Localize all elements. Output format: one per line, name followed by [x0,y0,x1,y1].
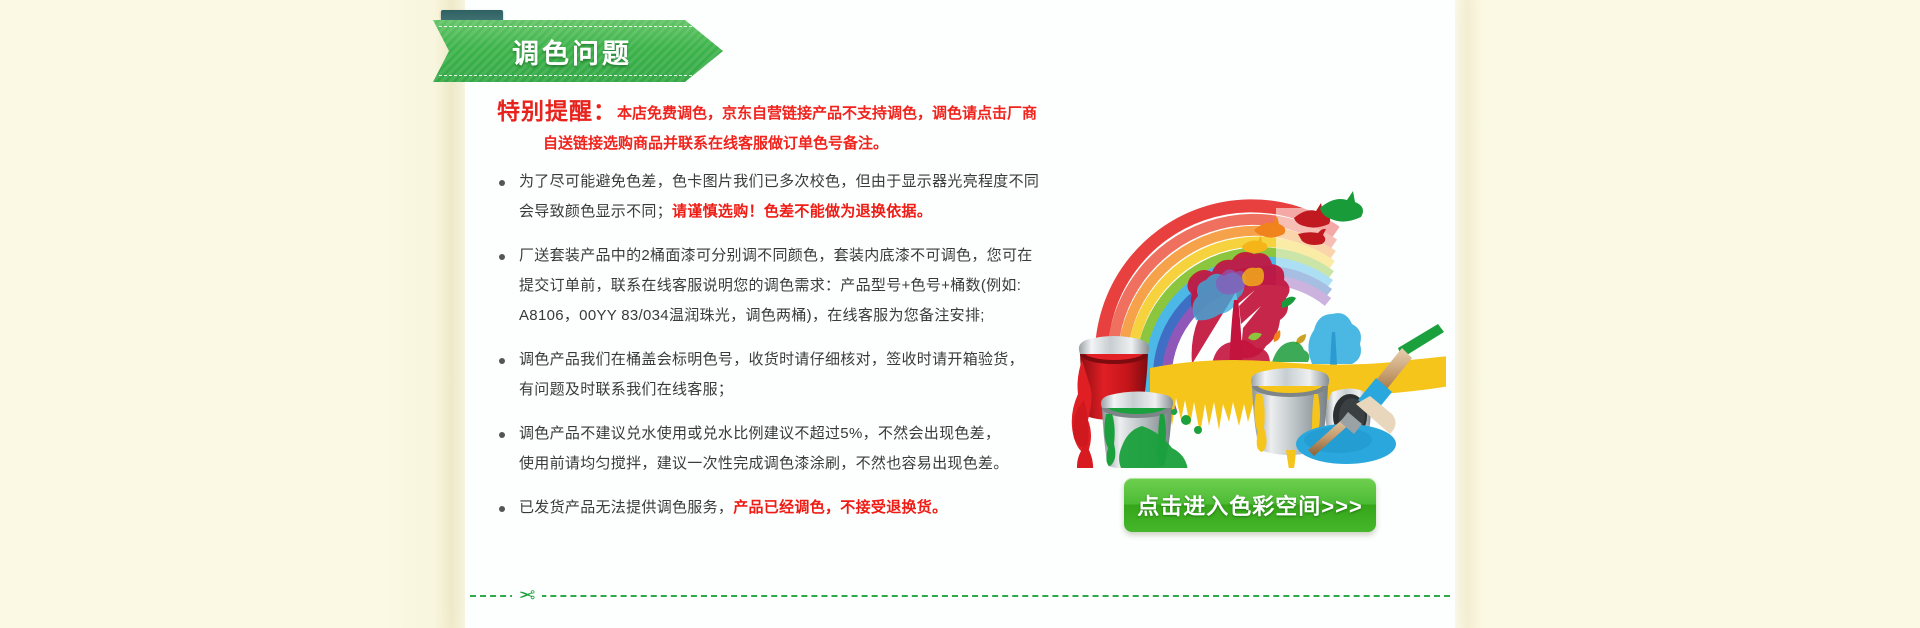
special-notice-line2: 自送链接选购商品并联系在线客服做订单色号备注。 [497,129,1057,159]
scissors-icon: ✂ [512,583,542,609]
content-sheet: 调色问题 特别提醒：本店免费调色，京东自营链接产品不支持调色，调色请点击厂商 自… [465,0,1455,628]
special-notice: 特别提醒：本店免费调色，京东自营链接产品不支持调色，调色请点击厂商 自送链接选购… [497,96,1057,159]
notice-content: 特别提醒：本店免费调色，京东自营链接产品不支持调色，调色请点击厂商 自送链接选购… [497,96,1057,537]
notice-list: 为了尽可能避免色差，色卡图片我们已多次校色，但由于显示器光亮程度不同 会导致颜色… [497,167,1057,523]
special-notice-line1: 本店免费调色，京东自营链接产品不支持调色，调色请点击厂商 [617,105,1037,122]
list-item: 调色产品不建议兑水使用或兑水比例建议不超过5%，不然会出现色差， 使用前请均匀搅… [497,419,1057,479]
list-item-line2: 会导致颜色显示不同； [519,203,672,220]
list-item-line1: 厂送套装产品中的2桶面漆可分别调不同颜色，套装内底漆不可调色，您可在 [519,247,1033,264]
list-item: 为了尽可能避免色差，色卡图片我们已多次校色，但由于显示器光亮程度不同 会导致颜色… [497,167,1057,227]
list-item-line1: 调色产品我们在桶盖会标明色号，收货时请仔细核对，签收时请开箱验货， [519,351,1024,368]
list-item: 已发货产品无法提供调色服务，产品已经调色，不接受退换货。 [497,493,1057,523]
list-item-line1: 已发货产品无法提供调色服务， [519,499,733,516]
page-title: 调色问题 [433,20,685,82]
list-item-line2: 有问题及时联系我们在线客服； [519,381,733,398]
list-item-line1-highlight: 产品已经调色，不接受退换货。 [733,499,947,516]
list-item-line2-highlight: 请谨慎选购！色差不能做为退换依据。 [672,203,932,220]
list-item-line2: 提交订单前，联系在线客服说明您的调色需求：产品型号+色号+桶数(例如: [519,277,1021,294]
list-item-line3: A8106，00YY 83/034温润珠光，调色两桶)，在线客服为您备注安排; [519,307,985,324]
paint-cans-rainbow-tree-illustration [1046,168,1446,468]
special-notice-lead: 特别提醒： [497,98,617,124]
list-item: 调色产品我们在桶盖会标明色号，收货时请仔细核对，签收时请开箱验货， 有问题及时联… [497,345,1057,405]
green-sprigs [1272,342,1309,362]
list-item-line1: 为了尽可能避免色差，色卡图片我们已多次校色，但由于显示器光亮程度不同 [519,173,1039,190]
list-item-line1: 调色产品不建议兑水使用或兑水比例建议不超过5%，不然会出现色差， [519,425,1000,442]
list-item: 厂送套装产品中的2桶面漆可分别调不同颜色，套装内底漆不可调色，您可在 提交订单前… [497,241,1057,331]
list-item-line2: 使用前请均匀搅拌，建议一次性完成调色漆涂刷，不然也容易出现色差。 [519,455,1009,472]
cut-line-dash [470,595,1450,597]
enter-color-space-button[interactable]: 点击进入色彩空间>>> [1124,478,1376,532]
section-banner: 调色问题 [433,8,733,88]
cut-line: ✂ [470,583,1450,609]
